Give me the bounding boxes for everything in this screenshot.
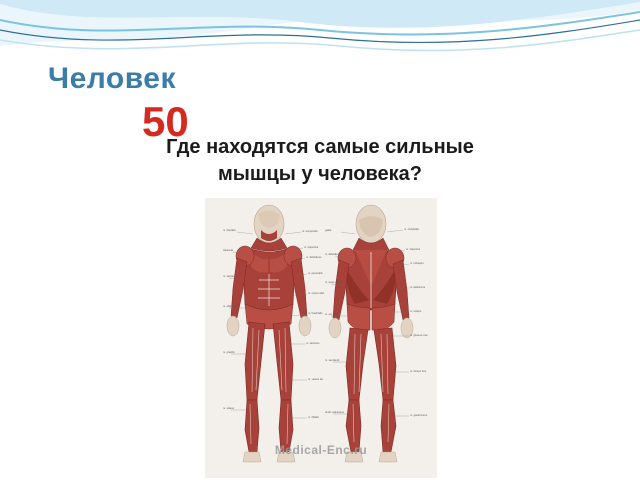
svg-text:m. triceps: m. triceps [410,309,422,313]
svg-text:m. gastrocnem.: m. gastrocnem. [410,413,428,417]
svg-text:m. deltoideus: m. deltoideus [325,252,341,256]
question-line-2: мышцы у человека? [218,163,422,185]
svg-text:m. semitend.: m. semitend. [325,358,340,362]
svg-text:m. temporalis: m. temporalis [302,229,318,233]
svg-text:m. rectus abd.: m. rectus abd. [308,291,325,295]
svg-text:m. ext. carpi: m. ext. carpi [325,312,340,316]
top-decoration [0,0,640,62]
svg-text:m. latissimus: m. latissimus [410,285,426,289]
svg-text:clavicula: clavicula [223,248,234,252]
question-line-1: Где находятся самые сильные [166,136,474,158]
svg-text:m. soleus: m. soleus [223,406,235,410]
slide: Человек 50 Где находятся самые сильные м… [0,0,640,480]
svg-text:m. teres major: m. teres major [325,280,342,284]
svg-text:m. vastus lat.: m. vastus lat. [308,377,324,381]
question-text: Где находятся самые сильные мышцы у чело… [60,134,580,188]
svg-text:tendo calcaneus: tendo calcaneus [325,410,345,414]
svg-text:m. brachialis: m. brachialis [308,311,323,315]
svg-text:m. trapezius: m. trapezius [304,245,319,249]
svg-text:m. gracilis: m. gracilis [223,350,235,354]
svg-text:m. trapezius: m. trapezius [406,247,421,251]
watermark-text: Medical-Enc.ru [205,443,437,457]
svg-text:galea: galea [325,228,332,232]
svg-text:m. pectoralis: m. pectoralis [308,271,323,275]
anatomy-figure: m. temporalis m. trapezius m. deltoideus… [205,198,437,478]
svg-text:m. occipitalis: m. occipitalis [404,227,420,231]
svg-text:m. obliquus: m. obliquus [223,304,237,308]
svg-text:m. biceps fem.: m. biceps fem. [410,369,427,373]
svg-text:m. infraspin.: m. infraspin. [410,261,424,265]
svg-text:m. serratus: m. serratus [223,274,237,278]
svg-text:m. tibialis: m. tibialis [308,415,320,419]
svg-text:m. deltoideus: m. deltoideus [306,255,322,259]
svg-text:m. gluteus max.: m. gluteus max. [410,333,429,337]
muscular-system-illustration: m. temporalis m. trapezius m. deltoideus… [205,198,437,478]
svg-text:m. sartorius: m. sartorius [306,341,320,345]
svg-text:m. frontalis: m. frontalis [223,228,236,232]
page-title: Человек [48,62,176,96]
